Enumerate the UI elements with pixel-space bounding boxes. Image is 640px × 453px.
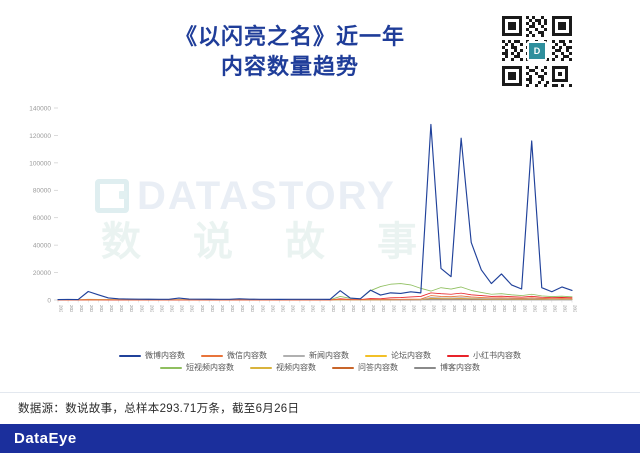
x-axis-label: 2023.03.14 [432,305,437,312]
x-axis-label: 2023.03.21 [442,305,447,312]
page-title: 《以闪亮之名》近一年 内容数量趋势 [120,22,460,81]
legend-color-swatch [332,367,354,370]
x-axis-label: 2023.04.18 [482,305,487,312]
x-axis-label: 2022.09.06 [159,305,164,312]
legend-label: 视频内容数 [276,364,316,372]
x-axis-label: 2022.07.05 [69,305,74,312]
y-axis-label: 60000 [33,215,51,222]
x-axis-label: 2022.08.02 [109,305,114,312]
legend-label: 论坛内容数 [391,352,431,360]
page-title-line-2: 内容数量趋势 [120,52,460,82]
x-axis-label: 2022.11.01 [240,305,245,312]
x-axis-label: 2023.06.20 [573,305,578,312]
x-axis-label: 2023.05.16 [522,305,527,312]
x-axis-label: 2022.07.12 [79,305,84,312]
legend-color-swatch [201,355,223,358]
chart-canvas: 0200004000060000800001000001200001400002… [0,100,640,312]
line-chart: 0200004000060000800001000001200001400002… [0,100,640,312]
x-axis-label: 2023.03.28 [452,305,457,312]
x-axis-label: 2023.01.17 [351,305,356,312]
legend-row-primary: 微博内容数微信内容数新闻内容数论坛内容数小红书内容数 [119,352,521,360]
legend-item[interactable]: 问答内容数 [332,364,398,372]
x-axis-label: 2022.11.15 [260,305,265,312]
x-axis-label: 2023.02.21 [401,305,406,312]
legend-item[interactable]: 新闻内容数 [283,352,349,360]
x-axis-label: 2022.08.30 [149,305,154,312]
y-axis-label: 20000 [33,270,51,277]
y-axis-label: 140000 [29,105,51,112]
x-axis-label: 2022.12.27 [321,305,326,312]
x-axis-label: 2023.05.02 [502,305,507,312]
legend-item[interactable]: 视频内容数 [250,364,316,372]
x-axis-label: 2022.10.04 [200,305,205,312]
x-axis-label: 2023.01.03 [331,305,336,312]
legend-label: 微博内容数 [145,352,185,360]
x-axis-label: 2022.11.22 [270,305,275,312]
x-axis-label: 2022.12.20 [311,305,316,312]
y-axis-label: 0 [47,297,51,304]
x-axis-label: 2023.04.11 [472,305,477,312]
x-axis-label: 2022.08.09 [119,305,124,312]
x-axis-label: 2022.08.16 [129,305,134,312]
footer-divider [0,392,640,393]
x-axis-label: 2022.09.13 [170,305,175,312]
legend-item[interactable]: 博客内容数 [414,364,480,372]
chart-page: 《以闪亮之名》近一年 内容数量趋势 [0,0,640,453]
x-axis-label: 2023.02.07 [381,305,386,312]
legend-color-swatch [447,355,469,358]
x-axis-label: 2022.10.11 [210,305,215,312]
legend-label: 新闻内容数 [309,352,349,360]
y-axis-label: 100000 [29,160,51,167]
x-axis-label: 2022.10.18 [220,305,225,312]
legend-color-swatch [160,367,182,370]
x-axis-label: 2023.01.24 [361,305,366,312]
legend-item[interactable]: 微信内容数 [201,352,267,360]
x-axis-label: 2022.09.27 [190,305,195,312]
x-axis-label: 2023.05.09 [512,305,517,312]
x-axis-label: 2023.06.06 [553,305,558,312]
chart-legend: 微博内容数微信内容数新闻内容数论坛内容数小红书内容数 短视频内容数视频内容数问答… [0,352,640,372]
legend-label: 博客内容数 [440,364,480,372]
data-source-note: 数据源：数说故事，总样本293.71万条，截至6月26日 [18,400,299,416]
y-axis-label: 40000 [33,243,51,250]
series-line [58,124,572,299]
legend-color-swatch [250,367,272,370]
x-axis-label: 2022.10.25 [230,305,235,312]
x-axis-label: 2023.02.14 [391,305,396,312]
x-axis-label: 2022.07.19 [89,305,94,312]
x-axis-label: 2023.01.10 [341,305,346,312]
x-axis-label: 2023.06.13 [563,305,568,312]
y-axis-label: 120000 [29,133,51,140]
legend-color-swatch [119,355,141,358]
x-axis-label: 2023.02.28 [411,305,416,312]
legend-label: 短视频内容数 [186,364,234,372]
x-axis-label: 2022.12.13 [301,305,306,312]
x-axis-label: 2022.07.26 [99,305,104,312]
legend-item[interactable]: 微博内容数 [119,352,185,360]
legend-label: 小红书内容数 [473,352,521,360]
legend-row-secondary: 短视频内容数视频内容数问答内容数博客内容数 [160,364,480,372]
legend-item[interactable]: 小红书内容数 [447,352,521,360]
dataeye-logo: DataEye [14,430,77,447]
x-axis-label: 2023.05.23 [532,305,537,312]
legend-item[interactable]: 短视频内容数 [160,364,234,372]
legend-label: 问答内容数 [358,364,398,372]
legend-label: 微信内容数 [227,352,267,360]
legend-item[interactable]: 论坛内容数 [365,352,431,360]
series-line [58,284,572,300]
x-axis-label: 2023.03.07 [422,305,427,312]
legend-color-swatch [365,355,387,358]
x-axis-label: 2022.11.08 [250,305,255,312]
legend-color-swatch [283,355,305,358]
x-axis-label: 2022.11.29 [280,305,285,312]
x-axis-label: 2022.06.28 [59,305,64,312]
x-axis-label: 2023.05.30 [542,305,547,312]
x-axis-label: 2022.08.23 [139,305,144,312]
x-axis-label: 2022.09.20 [180,305,185,312]
legend-color-swatch [414,367,436,370]
y-axis-label: 80000 [33,188,51,195]
qr-center-logo: D [527,41,547,61]
x-axis-label: 2023.04.25 [492,305,497,312]
page-title-line-1: 《以闪亮之名》近一年 [120,22,460,52]
x-axis-label: 2023.01.31 [371,305,376,312]
x-axis-label: 2022.12.06 [291,305,296,312]
x-axis-label: 2023.04.04 [462,305,467,312]
bottom-brand-bar: DataEye [0,424,640,453]
qr-code[interactable]: D [498,12,576,90]
